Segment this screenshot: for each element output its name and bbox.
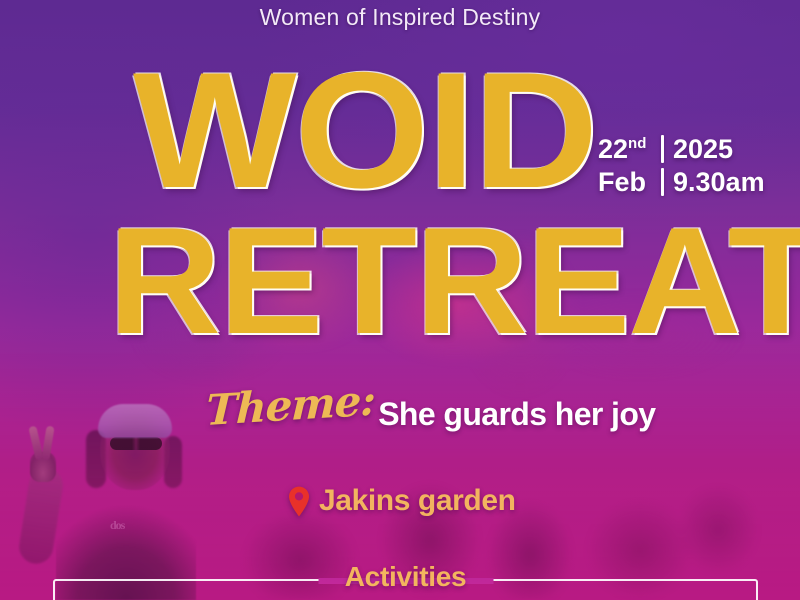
theme-block: Theme: She guards her joy bbox=[205, 386, 655, 435]
title-line-one: WOID bbox=[133, 48, 596, 213]
organization-name: Women of Inspired Destiny bbox=[0, 4, 800, 31]
poster-content: Women of Inspired Destiny WOID RETREAT 2… bbox=[0, 0, 800, 600]
date-row-day-year: 22nd 2025 bbox=[598, 133, 765, 166]
day-number: 22 bbox=[598, 134, 628, 164]
location-pin-icon bbox=[288, 486, 310, 517]
event-month: Feb bbox=[598, 166, 660, 199]
event-date-block: 22nd 2025 Feb 9.30am bbox=[598, 133, 765, 199]
venue-block: Jakins garden bbox=[288, 484, 516, 518]
venue-name: Jakins garden bbox=[319, 484, 516, 518]
theme-label: Theme: bbox=[205, 375, 380, 435]
event-day: 22nd bbox=[598, 133, 660, 166]
date-divider bbox=[661, 135, 664, 163]
event-poster: dos Women of Inspired Destiny WOID RETRE… bbox=[0, 0, 800, 600]
title-line-two: RETREAT bbox=[108, 205, 800, 357]
theme-text: She guards her joy bbox=[378, 396, 655, 433]
activities-heading-wrap: Activities bbox=[55, 561, 756, 593]
activities-title-mask bbox=[318, 578, 493, 584]
day-suffix: nd bbox=[628, 135, 646, 152]
activities-panel: Activities bbox=[53, 579, 758, 600]
date-row-month-time: Feb 9.30am bbox=[598, 166, 765, 199]
event-time: 9.30am bbox=[673, 166, 765, 199]
event-year: 2025 bbox=[673, 133, 733, 166]
activities-heading: Activities bbox=[331, 561, 481, 592]
time-divider bbox=[661, 168, 664, 196]
